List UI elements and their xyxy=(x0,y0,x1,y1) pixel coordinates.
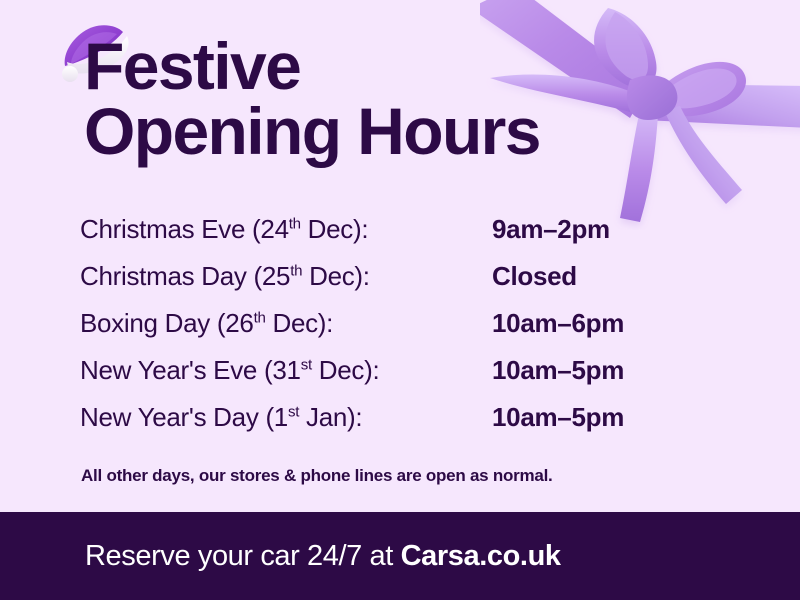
page-title: Festive Opening Hours xyxy=(84,34,724,163)
footer-brand-url[interactable]: Carsa.co.uk xyxy=(401,540,561,572)
hours-time-value: 10am–6pm xyxy=(492,308,624,339)
hours-day-ordinal: st xyxy=(301,356,312,373)
hours-day-ordinal: st xyxy=(288,403,299,420)
hours-time-value: 9am–2pm xyxy=(492,214,610,245)
hours-day-suffix: Jan): xyxy=(299,402,362,432)
hours-day-label: New Year's Day (1st Jan): xyxy=(80,402,492,433)
hours-row: Boxing Day (26th Dec): 10am–6pm xyxy=(80,308,730,355)
festive-opening-hours-poster: Festive Opening Hours Christmas Eve (24t… xyxy=(0,0,800,600)
hours-day-ordinal: th xyxy=(289,215,301,232)
hours-day-text: New Year's Eve (31 xyxy=(80,355,301,385)
hours-day-suffix: Dec): xyxy=(301,214,369,244)
hours-row: Christmas Day (25th Dec): Closed xyxy=(80,261,730,308)
footer-cta-lead: Reserve your car 24/7 at xyxy=(85,540,401,572)
hours-day-label: Christmas Eve (24th Dec): xyxy=(80,214,492,245)
hours-day-text: Christmas Eve (24 xyxy=(80,214,289,244)
hours-time-value: 10am–5pm xyxy=(492,402,624,433)
hours-row: New Year's Day (1st Jan): 10am–5pm xyxy=(80,402,730,449)
hours-day-suffix: Dec): xyxy=(312,355,380,385)
title-line-2: Opening Hours xyxy=(84,99,724,164)
hours-day-label: Boxing Day (26th Dec): xyxy=(80,308,492,339)
footer-cta-text: Reserve your car 24/7 at Carsa.co.uk xyxy=(85,540,561,573)
hours-day-text: Christmas Day (25 xyxy=(80,261,290,291)
opening-hours-list: Christmas Eve (24th Dec): 9am–2pm Christ… xyxy=(80,214,730,449)
footer-bar: Reserve your car 24/7 at Carsa.co.uk xyxy=(0,512,800,600)
hours-row: New Year's Eve (31st Dec): 10am–5pm xyxy=(80,355,730,402)
hours-day-label: New Year's Eve (31st Dec): xyxy=(80,355,492,386)
hours-day-text: New Year's Day (1 xyxy=(80,402,288,432)
hours-row: Christmas Eve (24th Dec): 9am–2pm xyxy=(80,214,730,261)
title-line-1: Festive xyxy=(84,34,724,99)
normal-hours-note: All other days, our stores & phone lines… xyxy=(81,466,553,486)
hours-time-value: Closed xyxy=(492,261,577,292)
hours-day-suffix: Dec): xyxy=(266,308,334,338)
hours-day-suffix: Dec): xyxy=(302,261,370,291)
hours-day-ordinal: th xyxy=(254,309,266,326)
hours-day-ordinal: th xyxy=(290,262,302,279)
hours-time-value: 10am–5pm xyxy=(492,355,624,386)
hours-day-text: Boxing Day (26 xyxy=(80,308,254,338)
hours-day-label: Christmas Day (25th Dec): xyxy=(80,261,492,292)
